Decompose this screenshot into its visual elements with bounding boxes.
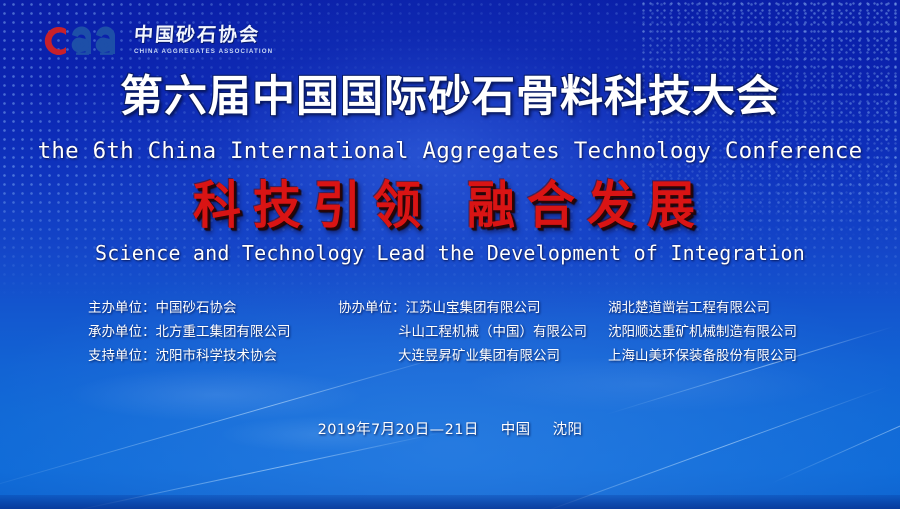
organizer-value: 沈阳市科学技术协会	[156, 348, 278, 364]
organizer-label: 主办单位：	[88, 300, 156, 316]
organizer-line: 湖北楚道凿岩工程有限公司	[608, 296, 828, 320]
event-city: 沈阳	[553, 422, 583, 438]
organizer-value: 江苏山宝集团有限公司	[406, 300, 541, 316]
logo-chinese-name: 中国砂石协会	[133, 26, 274, 45]
organizer-line: 斗山工程机械（中国）有限公司	[338, 320, 608, 344]
conference-banner: 中国砂石协会 CHINA AGGREGATES ASSOCIATION 第六届中…	[0, 0, 900, 509]
organizer-list: 主办单位：中国砂石协会 承办单位：北方重工集团有限公司 支持单位：沈阳市科学技术…	[88, 296, 828, 368]
event-datetime-location: 2019年7月20日—21日中国沈阳	[0, 418, 900, 439]
slogan-chinese-part2: 融合发展	[467, 176, 707, 235]
conference-title-chinese: 第六届中国国际砂石骨料科技大会	[0, 74, 900, 120]
organizer-value: 北方重工集团有限公司	[156, 324, 291, 340]
event-date: 2019年7月20日—21日	[318, 422, 479, 438]
organizer-column-sponsors: 湖北楚道凿岩工程有限公司 沈阳顺达重矿机械制造有限公司 上海山美环保装备股份有限…	[608, 296, 828, 368]
organizer-value: 湖北楚道凿岩工程有限公司	[608, 300, 770, 316]
organizer-value: 中国砂石协会	[156, 300, 237, 316]
organizer-line: 主办单位：中国砂石协会	[88, 296, 338, 320]
logo-english-name: CHINA AGGREGATES ASSOCIATION	[134, 49, 273, 55]
conference-title-english: the 6th China International Aggregates T…	[0, 138, 900, 164]
slogan-english: Science and Technology Lead the Developm…	[0, 241, 900, 265]
organizer-label: 支持单位：	[88, 348, 156, 364]
caa-monogram-icon	[36, 21, 128, 61]
organizer-value: 大连昱昇矿业集团有限公司	[398, 348, 560, 364]
event-country: 中国	[501, 422, 531, 438]
organizer-line: 承办单位：北方重工集团有限公司	[88, 320, 338, 344]
organizer-column-coorganizers: 协办单位：江苏山宝集团有限公司 斗山工程机械（中国）有限公司 大连昱昇矿业集团有…	[338, 296, 608, 368]
background-bottom-band	[0, 495, 900, 509]
organizer-value: 沈阳顺达重矿机械制造有限公司	[608, 324, 797, 340]
organizer-line: 支持单位：沈阳市科学技术协会	[88, 344, 338, 368]
organizer-line: 协办单位：江苏山宝集团有限公司	[338, 296, 608, 320]
organizer-value: 上海山美环保装备股份有限公司	[608, 348, 797, 364]
caa-logo: 中国砂石协会 CHINA AGGREGATES ASSOCIATION	[36, 20, 273, 62]
organizer-column-host: 主办单位：中国砂石协会 承办单位：北方重工集团有限公司 支持单位：沈阳市科学技术…	[88, 296, 338, 368]
organizer-value: 斗山工程机械（中国）有限公司	[398, 324, 587, 340]
organizer-label: 承办单位：	[88, 324, 156, 340]
slogan-chinese-part1: 科技引领	[193, 176, 433, 235]
organizer-line: 大连昱昇矿业集团有限公司	[338, 344, 608, 368]
slogan-chinese: 科技引领融合发展	[0, 178, 900, 234]
organizer-line: 上海山美环保装备股份有限公司	[608, 344, 828, 368]
organizer-line: 沈阳顺达重矿机械制造有限公司	[608, 320, 828, 344]
organizer-label: 协办单位：	[338, 300, 406, 316]
logo-text-block: 中国砂石协会 CHINA AGGREGATES ASSOCIATION	[134, 21, 273, 61]
